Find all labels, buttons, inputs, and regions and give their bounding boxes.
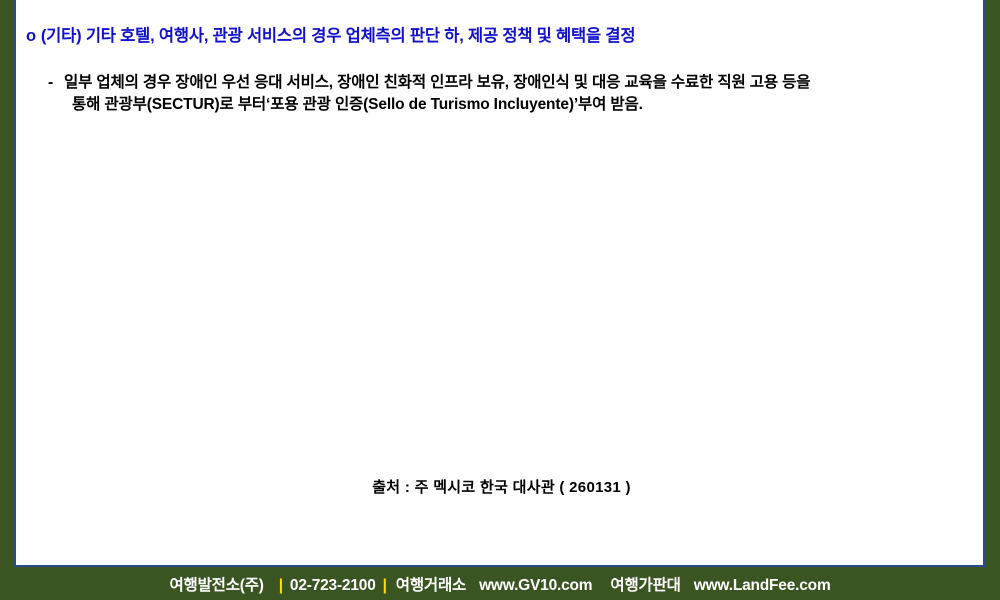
- bullet-level2-line2: 통해 관광부(SECTUR)로 부터‘포용 관광 인증(Sello de Tur…: [34, 94, 978, 116]
- bullet-level2-marker: -: [48, 72, 64, 94]
- footer-phone: 02-723-2100: [290, 577, 376, 595]
- footer-company-name: 여행발전소(주): [169, 573, 263, 595]
- bullet-level2-line1: 일부 업체의 경우 장애인 우선 응대 서비스, 장애인 친화적 인프라 보유,…: [34, 72, 978, 94]
- bullet-level1-marker: o: [26, 24, 36, 48]
- footer-separator-1: |: [279, 577, 283, 595]
- bullet-level1-text: (기타) 기타 호텔, 여행사, 관광 서비스의 경우 업체측의 판단 하, 제…: [41, 27, 635, 45]
- footer-separator-2: |: [383, 577, 387, 595]
- bullet-level1: o(기타) 기타 호텔, 여행사, 관광 서비스의 경우 업체측의 판단 하, …: [26, 24, 976, 48]
- slide-root: o(기타) 기타 호텔, 여행사, 관광 서비스의 경우 업체측의 판단 하, …: [0, 0, 1000, 600]
- source-credit: 출처 : 주 멕시코 한국 대사관 ( 260131 ): [16, 476, 987, 497]
- footer-bar: 여행발전소(주) | 02-723-2100 | 여행거래소 www.GV10.…: [0, 567, 1000, 600]
- footer-content: 여행발전소(주) | 02-723-2100 | 여행거래소 www.GV10.…: [169, 573, 830, 595]
- footer-brand-landfee: 여행가판대: [610, 573, 680, 595]
- slide-canvas: o(기타) 기타 호텔, 여행사, 관광 서비스의 경우 업체측의 판단 하, …: [14, 0, 985, 567]
- bullet-level2: - 일부 업체의 경우 장애인 우선 응대 서비스, 장애인 친화적 인프라 보…: [34, 72, 978, 116]
- footer-url-landfee[interactable]: www.LandFee.com: [694, 577, 831, 595]
- footer-url-gv10[interactable]: www.GV10.com: [479, 577, 592, 595]
- slide-body: o(기타) 기타 호텔, 여행사, 관광 서비스의 경우 업체측의 판단 하, …: [16, 0, 983, 565]
- footer-brand-gv10: 여행거래소: [396, 573, 466, 595]
